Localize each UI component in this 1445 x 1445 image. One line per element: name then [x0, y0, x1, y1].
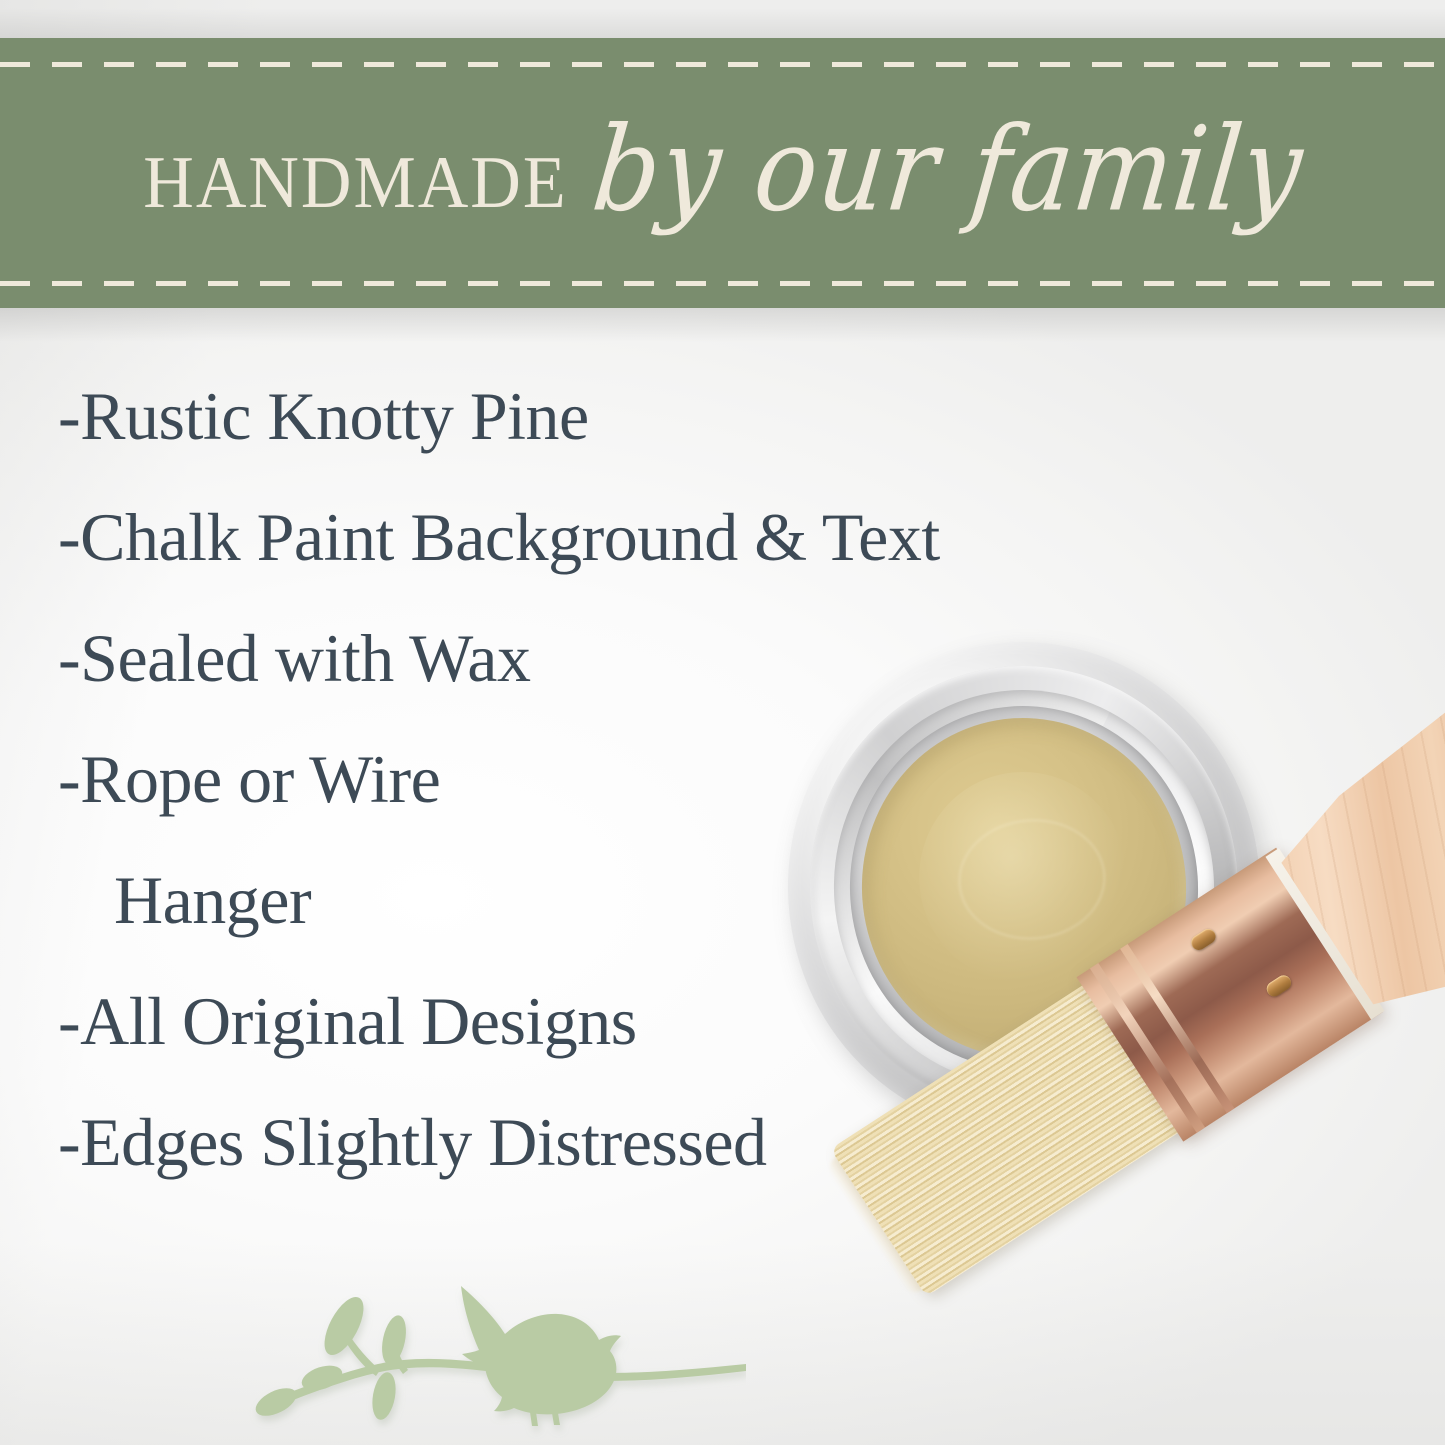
- brush-ferrule-edge: [1265, 848, 1384, 1019]
- banner-title: Handmadeby our family: [143, 117, 1301, 222]
- bird-on-branch-decoration: [246, 1268, 746, 1445]
- paint-can-outer-rim: [771, 626, 1276, 1150]
- brush-rivet: [1264, 973, 1294, 1000]
- brush-handle-woodgrain: [1260, 693, 1445, 1037]
- banner-title-script: by our family: [587, 110, 1307, 226]
- banner-text-wrap: Handmadeby our family: [0, 38, 1445, 308]
- feature-list-item: -Rustic Knotty Pine: [58, 382, 1178, 450]
- feature-list-item: -Chalk Paint Background & Text: [58, 503, 1178, 571]
- banner-title-main: Handmade: [143, 119, 567, 225]
- header-banner: Handmadeby our family: [0, 38, 1445, 308]
- product-listing-graphic: Handmadeby our family -Rustic Knotty Pin…: [0, 0, 1445, 1445]
- banner-top-shadow: [0, 8, 1445, 40]
- brush-wooden-handle: [1260, 693, 1445, 1037]
- banner-bottom-shadow: [0, 308, 1445, 342]
- bird-branch-icon: [246, 1268, 746, 1445]
- paint-can-image: [788, 642, 1260, 1134]
